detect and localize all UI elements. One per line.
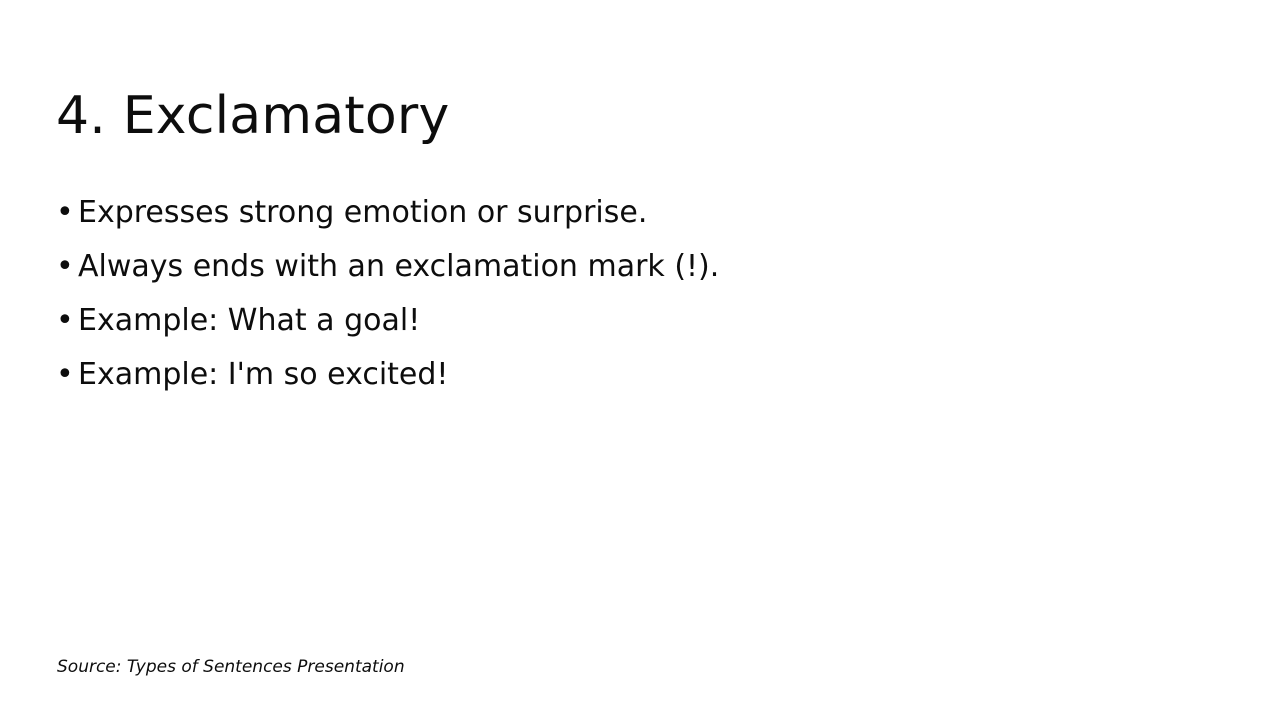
list-item: •Example: What a goal!	[56, 294, 1156, 348]
list-item: •Expresses strong emotion or surprise.	[56, 186, 1156, 240]
list-item-text: Expresses strong emotion or surprise.	[78, 195, 647, 230]
list-item: •Always ends with an exclamation mark (!…	[56, 240, 1156, 294]
bullet-dot-icon: •	[56, 348, 78, 402]
bullet-dot-icon: •	[56, 186, 78, 240]
bullet-dot-icon: •	[56, 240, 78, 294]
bullet-list: •Expresses strong emotion or surprise. •…	[56, 186, 1156, 402]
list-item: •Example: I'm so excited!	[56, 348, 1156, 402]
list-item-text: Always ends with an exclamation mark (!)…	[78, 249, 719, 284]
slide-canvas: 4. Exclamatory •Expresses strong emotion…	[0, 0, 1280, 720]
list-item-text: Example: I'm so excited!	[78, 357, 448, 392]
list-item-text: Example: What a goal!	[78, 303, 420, 338]
page-title: 4. Exclamatory	[56, 87, 449, 147]
bullet-dot-icon: •	[56, 294, 78, 348]
source-footer: Source: Types of Sentences Presentation	[57, 656, 405, 678]
